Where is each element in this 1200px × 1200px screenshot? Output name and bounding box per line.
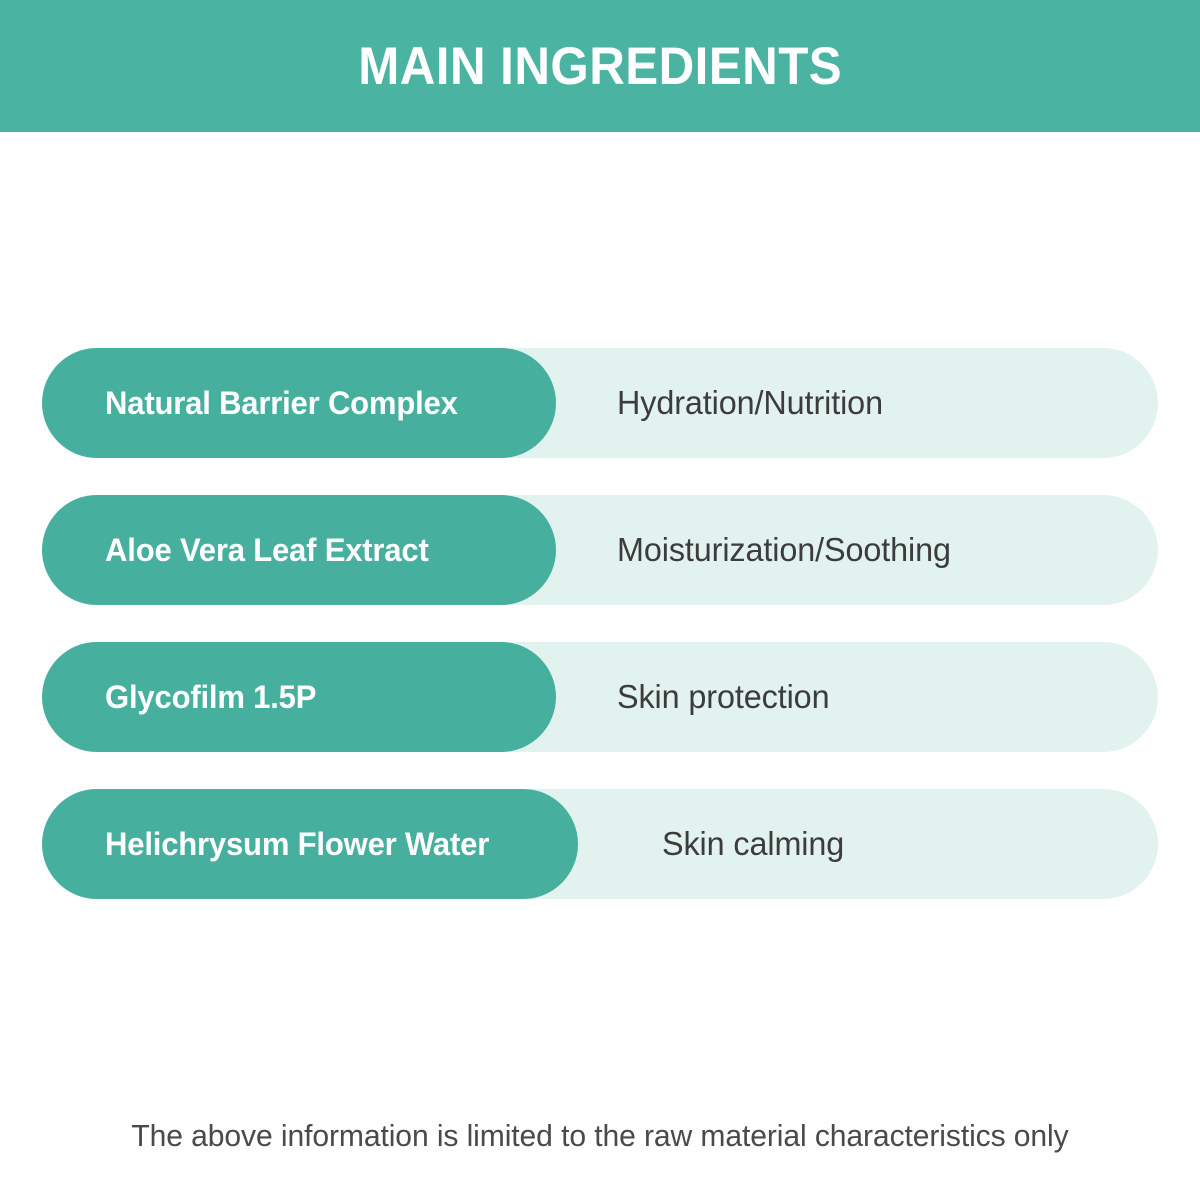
list-item: Aloe Vera Leaf Extract Moisturization/So… — [42, 495, 1158, 605]
ingredient-name-pill: Natural Barrier Complex — [42, 348, 556, 458]
ingredient-benefit: Skin calming — [662, 789, 844, 899]
ingredient-name: Natural Barrier Complex — [42, 385, 458, 422]
ingredient-name: Aloe Vera Leaf Extract — [42, 532, 429, 569]
header-band: MAIN INGREDIENTS — [0, 0, 1200, 132]
list-item: Glycofilm 1.5P Skin protection — [42, 642, 1158, 752]
page-title: MAIN INGREDIENTS — [358, 40, 842, 93]
ingredient-name: Helichrysum Flower Water — [42, 826, 489, 863]
list-item: Helichrysum Flower Water Skin calming — [42, 789, 1158, 899]
ingredient-benefit: Skin protection — [617, 642, 829, 752]
ingredients-list: Natural Barrier Complex Hydration/Nutrit… — [42, 348, 1158, 899]
ingredient-name: Glycofilm 1.5P — [42, 679, 316, 716]
ingredient-benefit: Hydration/Nutrition — [617, 348, 883, 458]
list-item: Natural Barrier Complex Hydration/Nutrit… — [42, 348, 1158, 458]
disclaimer-note: The above information is limited to the … — [18, 1118, 1182, 1154]
ingredient-name-pill: Helichrysum Flower Water — [42, 789, 578, 899]
ingredients-infographic: MAIN INGREDIENTS Natural Barrier Complex… — [0, 0, 1200, 1200]
ingredient-name-pill: Glycofilm 1.5P — [42, 642, 556, 752]
ingredient-name-pill: Aloe Vera Leaf Extract — [42, 495, 556, 605]
ingredient-benefit: Moisturization/Soothing — [617, 495, 951, 605]
